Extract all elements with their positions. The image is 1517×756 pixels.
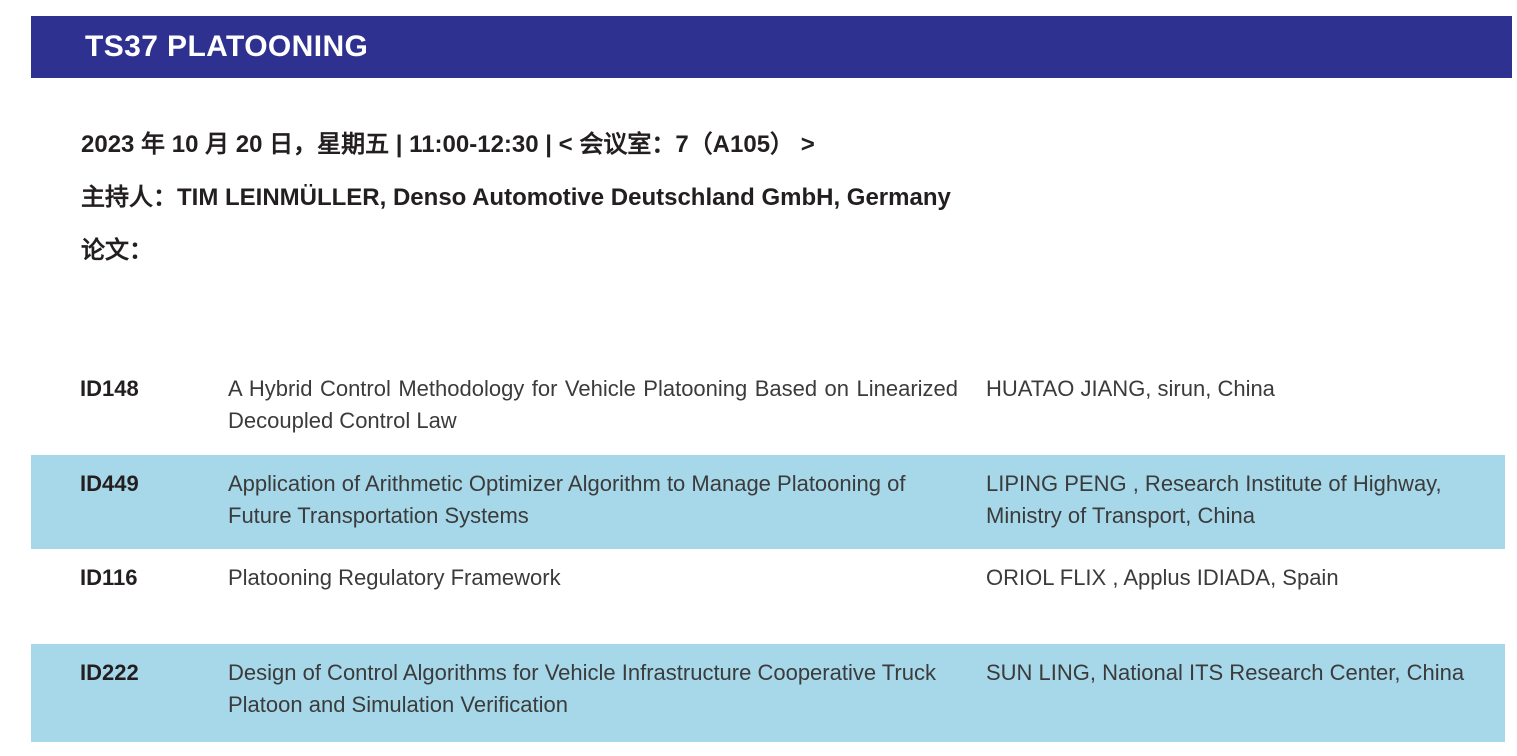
paper-authors: HUATAO JIANG, sirun, China bbox=[986, 373, 1505, 405]
paper-authors: SUN LING, National ITS Research Center, … bbox=[986, 657, 1505, 689]
papers-label: 论文： bbox=[81, 239, 1481, 263]
paper-authors: LIPING PENG , Research Institute of High… bbox=[986, 468, 1505, 532]
session-chair: 主持人：TIM LEINMÜLLER, Denso Automotive Deu… bbox=[81, 186, 1481, 210]
table-row[interactable]: ID222 Design of Control Algorithms for V… bbox=[31, 644, 1505, 742]
paper-id: ID148 bbox=[31, 373, 228, 405]
paper-authors: ORIOL FLIX , Applus IDIADA, Spain bbox=[986, 562, 1505, 594]
papers-table: ID148 A Hybrid Control Methodology for V… bbox=[31, 360, 1505, 742]
session-datetime-room: 2023 年 10 月 20 日，星期五 | 11:00-12:30 | < 会… bbox=[81, 133, 1481, 157]
session-header-bar: TS37 PLATOONING bbox=[31, 16, 1512, 78]
table-row[interactable]: ID116 Platooning Regulatory Framework OR… bbox=[31, 549, 1505, 644]
paper-title: Design of Control Algorithms for Vehicle… bbox=[228, 657, 986, 721]
table-row[interactable]: ID148 A Hybrid Control Methodology for V… bbox=[31, 360, 1505, 455]
paper-id: ID449 bbox=[31, 468, 228, 500]
session-title: TS37 PLATOONING bbox=[31, 30, 368, 64]
table-row[interactable]: ID449 Application of Arithmetic Optimize… bbox=[31, 455, 1505, 549]
paper-title: Application of Arithmetic Optimizer Algo… bbox=[228, 468, 986, 532]
paper-title: Platooning Regulatory Framework bbox=[228, 562, 986, 594]
session-meta: 2023 年 10 月 20 日，星期五 | 11:00-12:30 | < 会… bbox=[81, 133, 1481, 263]
paper-title: A Hybrid Control Methodology for Vehicle… bbox=[228, 373, 986, 437]
paper-id: ID222 bbox=[31, 657, 228, 689]
paper-id: ID116 bbox=[31, 562, 228, 594]
